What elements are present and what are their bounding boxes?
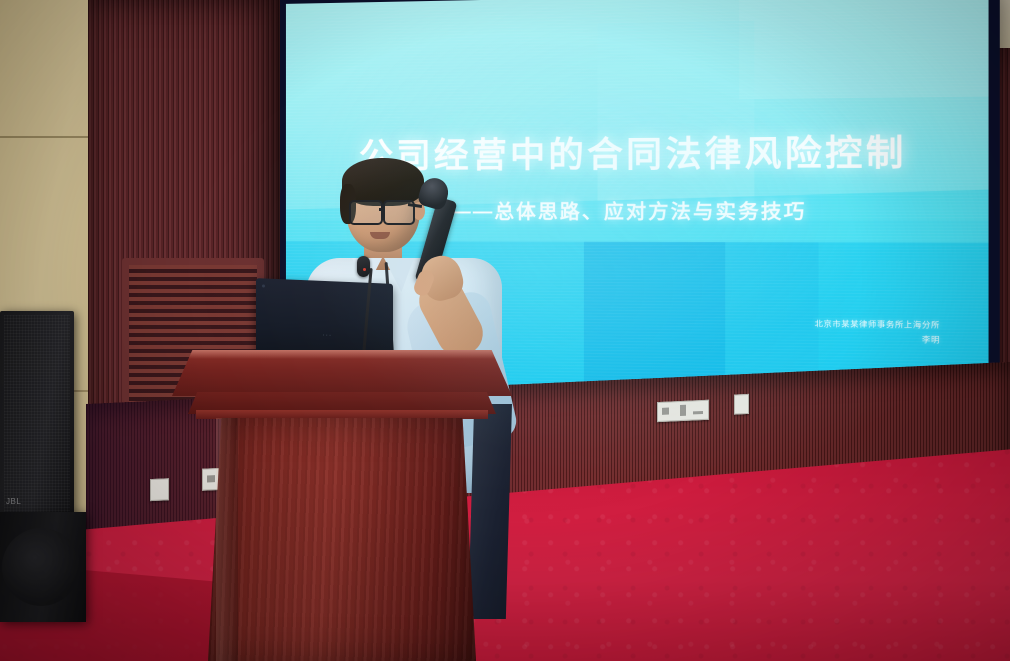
presenter-trousers bbox=[468, 404, 512, 619]
glasses-lens-left bbox=[349, 200, 383, 225]
gooseneck-microphone-capsule bbox=[357, 256, 370, 277]
gooseneck-microphone-led bbox=[363, 268, 366, 271]
wall-plate-far-right[interactable] bbox=[734, 394, 749, 415]
loudspeaker-subwoofer bbox=[0, 512, 86, 622]
laptop-logo: ··· bbox=[322, 332, 332, 339]
laptop-camera-dot bbox=[262, 284, 265, 287]
photograph-scene: 公司经营中的合同法律风险控制 ——总体思路、应对方法与实务技巧 北京市某某律师事… bbox=[0, 0, 1010, 661]
loudspeaker-top: JBL bbox=[0, 311, 74, 518]
loudspeaker-grille bbox=[4, 315, 70, 514]
glasses-bridge bbox=[379, 208, 384, 211]
wall-outlet-right-group[interactable] bbox=[657, 400, 709, 422]
lectern-wood-grain bbox=[208, 418, 476, 661]
lectern-top-highlight bbox=[172, 350, 512, 359]
lectern-body bbox=[208, 418, 476, 661]
lectern-top bbox=[172, 350, 512, 396]
lectern-front-edge bbox=[216, 418, 238, 661]
laptop-on-lectern[interactable]: ··· bbox=[256, 278, 393, 362]
wall-plate-left-single[interactable] bbox=[150, 478, 169, 501]
loudspeaker-cone bbox=[2, 528, 80, 606]
lectern-lip-trim bbox=[196, 410, 488, 419]
loudspeaker-brand-mark: JBL bbox=[6, 497, 21, 506]
